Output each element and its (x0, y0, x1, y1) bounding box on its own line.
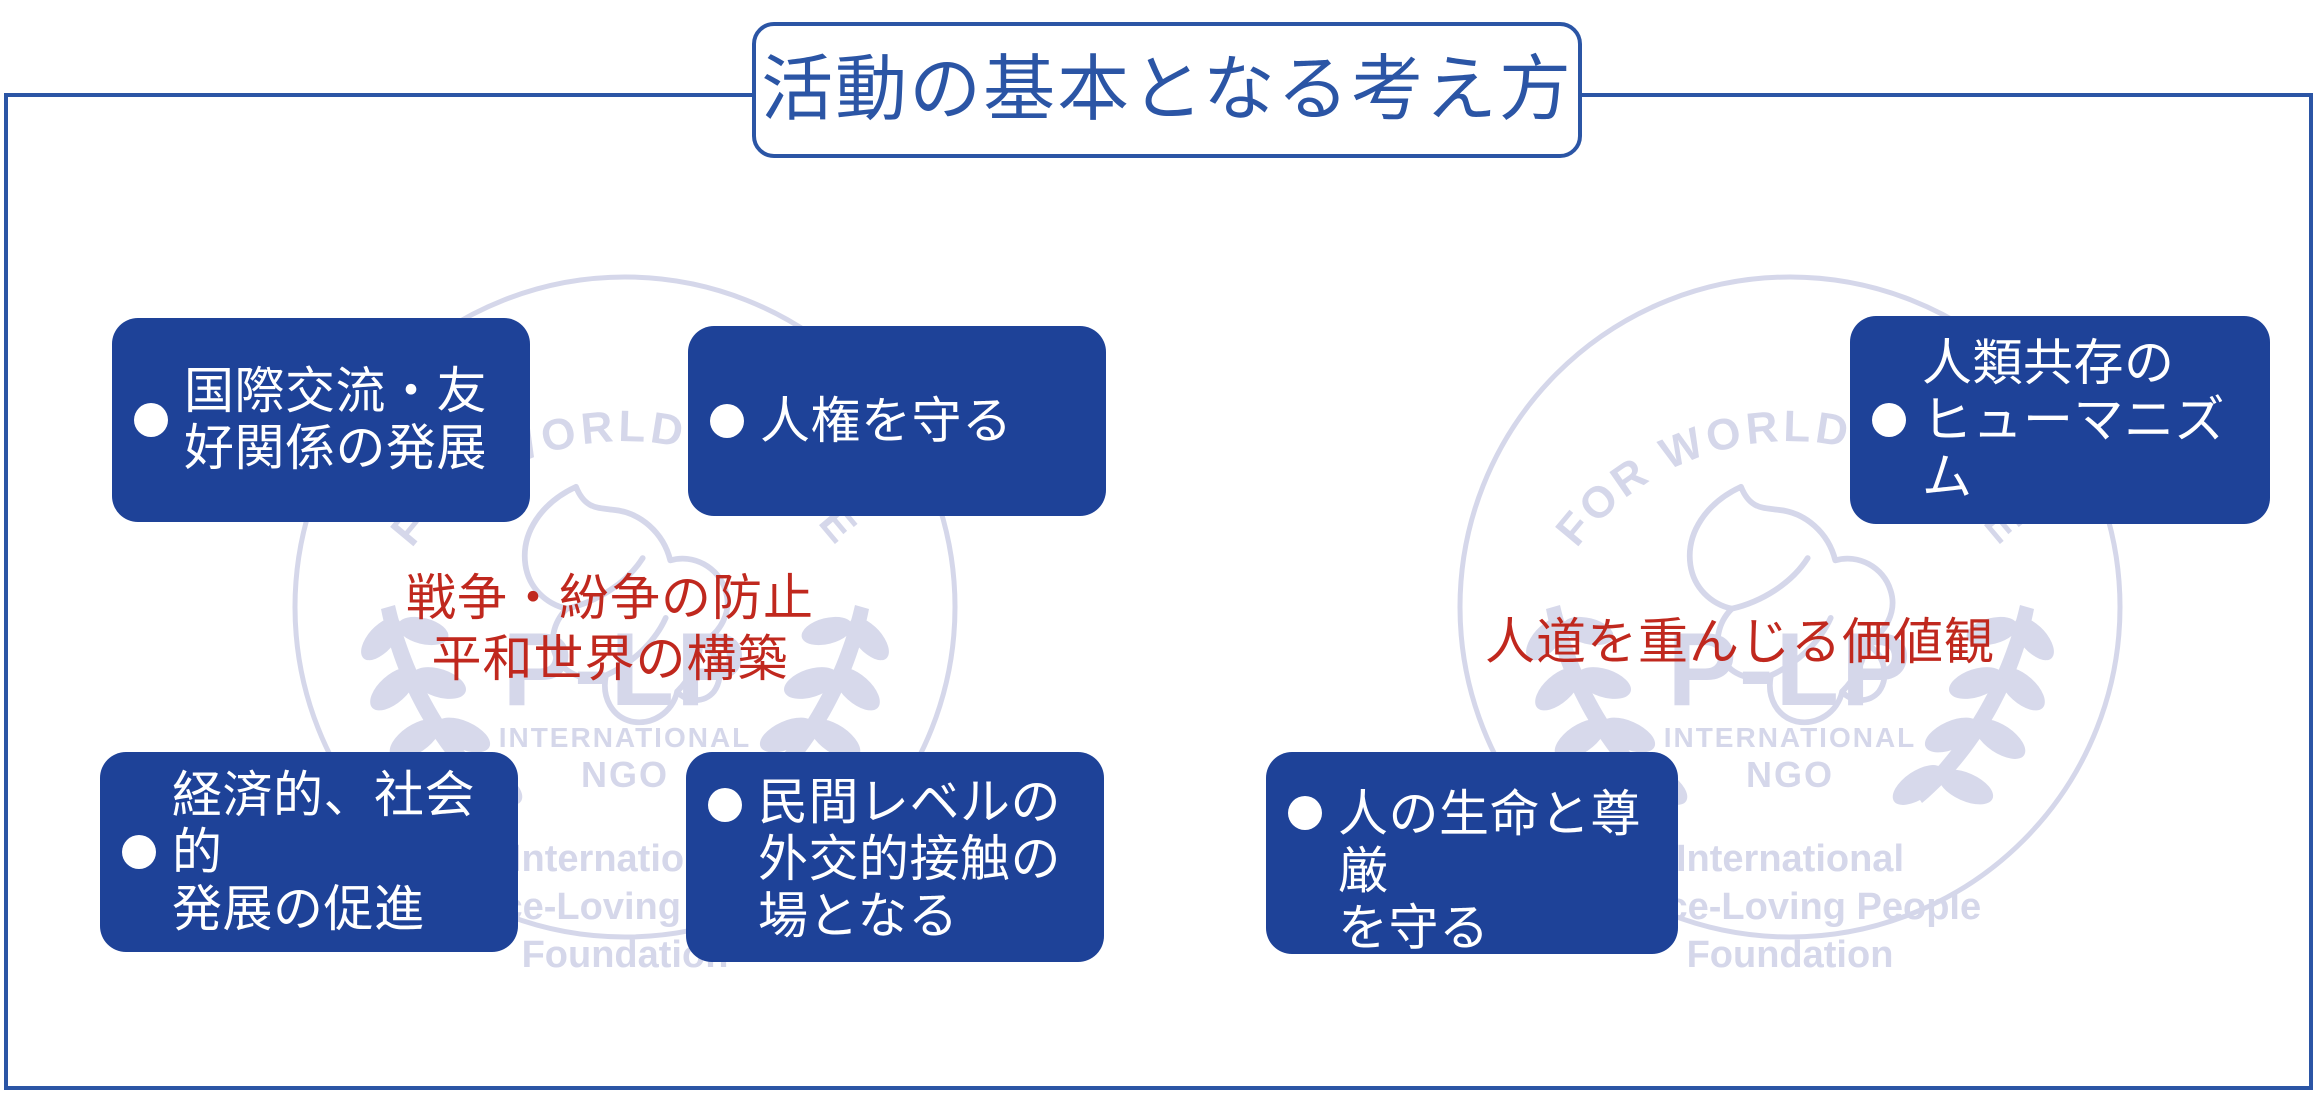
node-international-exchange[interactable]: 国際交流・友 好関係の発展 (112, 318, 530, 522)
node-civil-diplomatic-contact[interactable]: 民間レベルの 外交的接触の 場となる (686, 752, 1104, 962)
bullet-dot-icon (134, 403, 168, 437)
node-label: 民間レベルの 外交的接触の 場となる (758, 774, 1061, 945)
slide-canvas: FOR WORLD PEACE (0, 0, 2319, 1098)
node-label: 人の生命と尊厳 を守る (1338, 786, 1662, 957)
bullet-dot-icon (708, 788, 742, 822)
bullet-dot-icon (1288, 796, 1322, 830)
group-caption-humanity: 人道を重んじる価値観 (1440, 612, 2040, 673)
node-humanism-coexistence[interactable]: 人類共存の ヒューマニズム (1850, 316, 2270, 524)
bullet-dot-icon (1872, 403, 1906, 437)
node-protect-life-dignity[interactable]: 人の生命と尊厳 を守る (1266, 752, 1678, 954)
page-title: 活動の基本となる考え方 (761, 54, 1573, 126)
node-economic-social-development[interactable]: 経済的、社会的 発展の促進 (100, 752, 518, 952)
node-label: 経済的、社会的 発展の促進 (172, 767, 502, 938)
node-label: 国際交流・友 好関係の発展 (184, 363, 487, 477)
bullet-dot-icon (710, 404, 744, 438)
node-label: 人権を守る (760, 393, 1013, 450)
slide-title-pill: 活動の基本となる考え方 (752, 22, 1582, 158)
bullet-dot-icon (122, 835, 156, 869)
node-protect-human-rights[interactable]: 人権を守る (688, 326, 1106, 516)
node-label: 人類共存の ヒューマニズム (1922, 335, 2254, 506)
group-caption-peace: 戦争・紛争の防止 平和世界の構築 (330, 568, 890, 690)
